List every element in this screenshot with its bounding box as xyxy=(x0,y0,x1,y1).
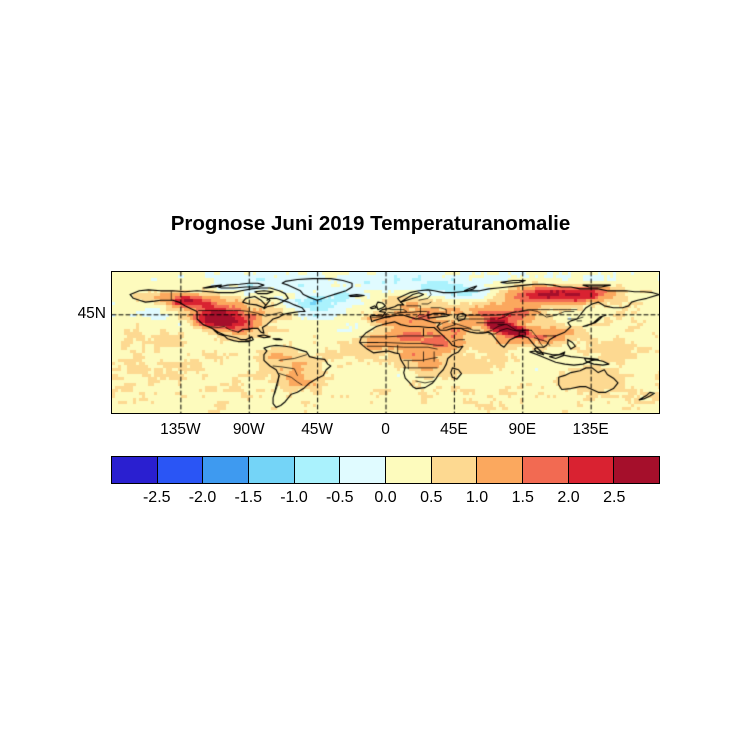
colorbar-swatch-2 xyxy=(203,457,249,483)
colorbar-tick-neg1p0: -1.0 xyxy=(280,489,308,507)
colorbar-tick-neg0p5: -0.5 xyxy=(326,489,354,507)
colorbar-tick-0p0: 0.0 xyxy=(374,489,396,507)
colorbar-swatch-6 xyxy=(386,457,432,483)
colorbar[interactable] xyxy=(111,456,660,484)
colorbar-tick-neg2p5: -2.5 xyxy=(143,489,171,507)
map-panel[interactable] xyxy=(111,271,660,414)
colorbar-tick-1p5: 1.5 xyxy=(512,489,534,507)
colorbar-tick-0p5: 0.5 xyxy=(420,489,442,507)
colorbar-tick-neg1p5: -1.5 xyxy=(234,489,262,507)
x-axis-tick-90e: 90E xyxy=(508,421,536,439)
x-axis-tick-45w: 45W xyxy=(301,421,333,439)
colorbar-swatch-1 xyxy=(158,457,204,483)
colorbar-swatch-4 xyxy=(295,457,341,483)
colorbar-tick-2p5: 2.5 xyxy=(603,489,625,507)
x-axis-tick-135w: 135W xyxy=(160,421,201,439)
anomaly-heatmap-canvas xyxy=(112,272,659,413)
colorbar-swatch-8 xyxy=(477,457,523,483)
x-axis-tick-135e: 135E xyxy=(573,421,609,439)
colorbar-swatch-7 xyxy=(432,457,478,483)
colorbar-tick-1p0: 1.0 xyxy=(466,489,488,507)
x-axis-tick-0: 0 xyxy=(381,421,390,439)
x-axis-tick-45e: 45E xyxy=(440,421,468,439)
climate-anomaly-figure: Prognose Juni 2019 Temperaturanomalie 45… xyxy=(0,0,741,741)
colorbar-swatch-10 xyxy=(569,457,615,483)
x-axis-tick-90w: 90W xyxy=(233,421,265,439)
y-axis-tick-45n: 45N xyxy=(66,305,106,323)
colorbar-swatch-5 xyxy=(340,457,386,483)
colorbar-tick-neg2p0: -2.0 xyxy=(189,489,217,507)
page-title: Prognose Juni 2019 Temperaturanomalie xyxy=(0,212,741,236)
colorbar-swatch-3 xyxy=(249,457,295,483)
colorbar-swatch-11 xyxy=(614,457,659,483)
colorbar-swatch-9 xyxy=(523,457,569,483)
colorbar-swatch-0 xyxy=(112,457,158,483)
colorbar-tick-2p0: 2.0 xyxy=(557,489,579,507)
